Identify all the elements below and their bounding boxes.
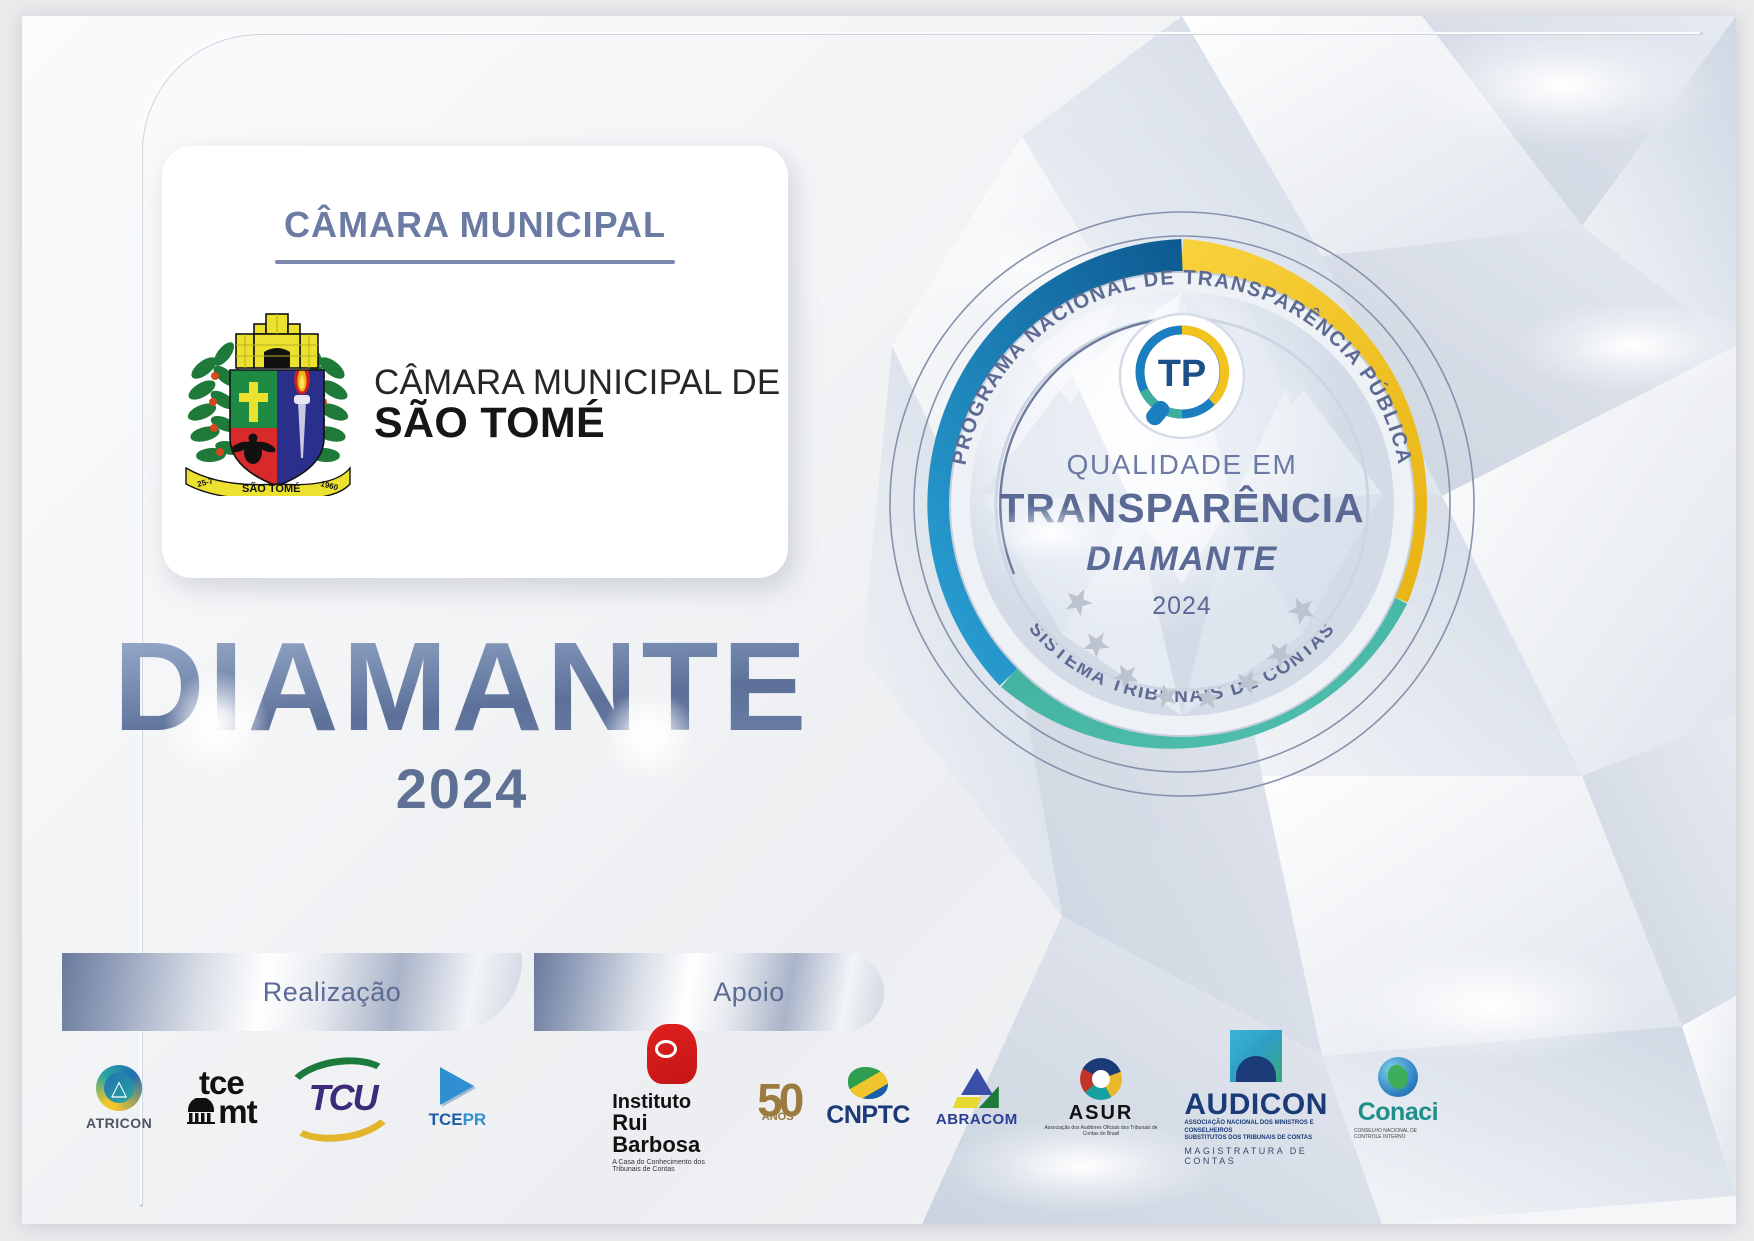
entity-heading: CÂMARA MUNICIPAL	[162, 146, 788, 246]
svg-text:TP: TP	[1158, 353, 1207, 395]
logo-cnptc-label: CNPTC	[826, 1101, 910, 1130]
logo-asur-sub: Associação dos Auditores Oficiais dos Tr…	[1044, 1126, 1159, 1138]
logo-asur-label: ASUR	[1069, 1102, 1134, 1125]
logo-audicon[interactable]: AUDICON ASSOCIAÇÃO NACIONAL DOS MINISTRO…	[1184, 1030, 1328, 1166]
logo-50-anos-word: ANOS	[762, 1111, 794, 1123]
banner-apoio: Apoio	[534, 953, 884, 1031]
logo-tcu-label: TCU	[309, 1077, 377, 1119]
entity-identity: 25-7 SÃO TOMÉ 1960 CÂMARA MUNICIPAL DE S…	[162, 310, 788, 501]
banner-realizacao-label: Realização	[263, 977, 402, 1008]
logo-conaci[interactable]: Conaci CONSELHO NACIONAL DE CONTROLE INT…	[1354, 1057, 1442, 1140]
logo-irb-line1: Instituto	[612, 1092, 731, 1112]
logo-group-apoio: Instituto Rui Barbosa A Casa do Conhecim…	[612, 1024, 1442, 1173]
logo-atricon[interactable]: △ ATRICON	[86, 1065, 152, 1131]
rui-barbosa-portrait-icon	[647, 1024, 697, 1084]
logo-audicon-sub1: ASSOCIAÇÃO NACIONAL DOS MINISTROS E CONS…	[1184, 1120, 1328, 1136]
seal-line4: 2024	[1152, 592, 1212, 620]
logo-tcu[interactable]: TCU	[291, 1069, 395, 1127]
logo-irb-line3: A Casa do Conhecimento dos Tribunais de …	[612, 1159, 731, 1173]
logo-cnptc[interactable]: CNPTC	[826, 1067, 910, 1130]
entity-name-block: CÂMARA MUNICIPAL DE SÃO TOMÉ	[374, 365, 780, 446]
entity-card: CÂMARA MUNICIPAL	[162, 146, 788, 578]
logo-instituto-rui-barbosa[interactable]: Instituto Rui Barbosa A Casa do Conhecim…	[612, 1024, 731, 1173]
logo-tce-pr-label-b: PR	[463, 1110, 487, 1129]
abracom-mark-icon	[955, 1068, 999, 1108]
tce-mt-building-icon	[186, 1098, 216, 1127]
seal-line3: DIAMANTE	[1086, 540, 1277, 578]
logo-asur[interactable]: ASUR Associação dos Auditores Oficiais d…	[1044, 1058, 1159, 1138]
entity-name-line2: SÃO TOMÉ	[374, 401, 780, 446]
coat-of-arms-icon: 25-7 SÃO TOMÉ 1960	[180, 310, 356, 501]
asur-seal-icon	[1080, 1058, 1122, 1100]
logo-tce-mt-line2: mt	[218, 1098, 256, 1126]
logo-conaci-sub: CONSELHO NACIONAL DE CONTROLE INTERNO	[1354, 1128, 1442, 1140]
ribbon-city: SÃO TOMÉ	[242, 482, 300, 495]
logo-audicon-sub2: SUBSTITUTOS DOS TRIBUNAIS DE CONTAS	[1184, 1135, 1328, 1143]
atricon-mark-icon: △	[96, 1065, 142, 1111]
audicon-mark-icon	[1230, 1030, 1282, 1082]
logo-tce-pr-label-a: TCE	[429, 1110, 463, 1129]
entity-heading-rule	[275, 260, 675, 264]
logo-strip: △ ATRICON tce	[62, 1038, 1442, 1158]
conaci-globe-icon	[1378, 1057, 1418, 1097]
logo-tce-mt[interactable]: tce mt	[186, 1069, 256, 1126]
banner-apoio-label: Apoio	[713, 977, 785, 1008]
logo-50-anos[interactable]: 50 ANOS	[757, 1073, 800, 1123]
logo-abracom[interactable]: ABRACOM	[936, 1068, 1018, 1128]
logo-conaci-label: Conaci	[1358, 1098, 1438, 1127]
logo-irb-line2: Rui Barbosa	[612, 1112, 731, 1156]
logo-group-realizacao: △ ATRICON tce	[86, 1065, 486, 1131]
award-level: DIAMANTE	[114, 624, 811, 750]
transparency-seal: PROGRAMA NACIONAL DE TRANSPARÊNCIA PÚBLI…	[882, 204, 1482, 804]
certificate-canvas: CÂMARA MUNICIPAL	[22, 16, 1736, 1224]
banner-realizacao: Realização	[62, 953, 522, 1031]
award-year: 2024	[102, 756, 822, 821]
logo-tce-pr[interactable]: TCEPR	[429, 1067, 487, 1130]
logo-audicon-sub3: MAGISTRATURA DE CONTAS	[1184, 1146, 1328, 1166]
award-block: DIAMANTE 2024	[102, 624, 822, 821]
cnptc-brazil-map-icon	[848, 1067, 888, 1099]
seal-line1: QUALIDADE EM	[1067, 449, 1298, 480]
logo-abracom-label: ABRACOM	[936, 1111, 1018, 1128]
logo-audicon-label: AUDICON	[1184, 1090, 1328, 1120]
entity-name-line1: CÂMARA MUNICIPAL DE	[374, 365, 780, 401]
logo-atricon-label: ATRICON	[86, 1115, 152, 1131]
tce-pr-triangle-icon	[440, 1067, 474, 1105]
